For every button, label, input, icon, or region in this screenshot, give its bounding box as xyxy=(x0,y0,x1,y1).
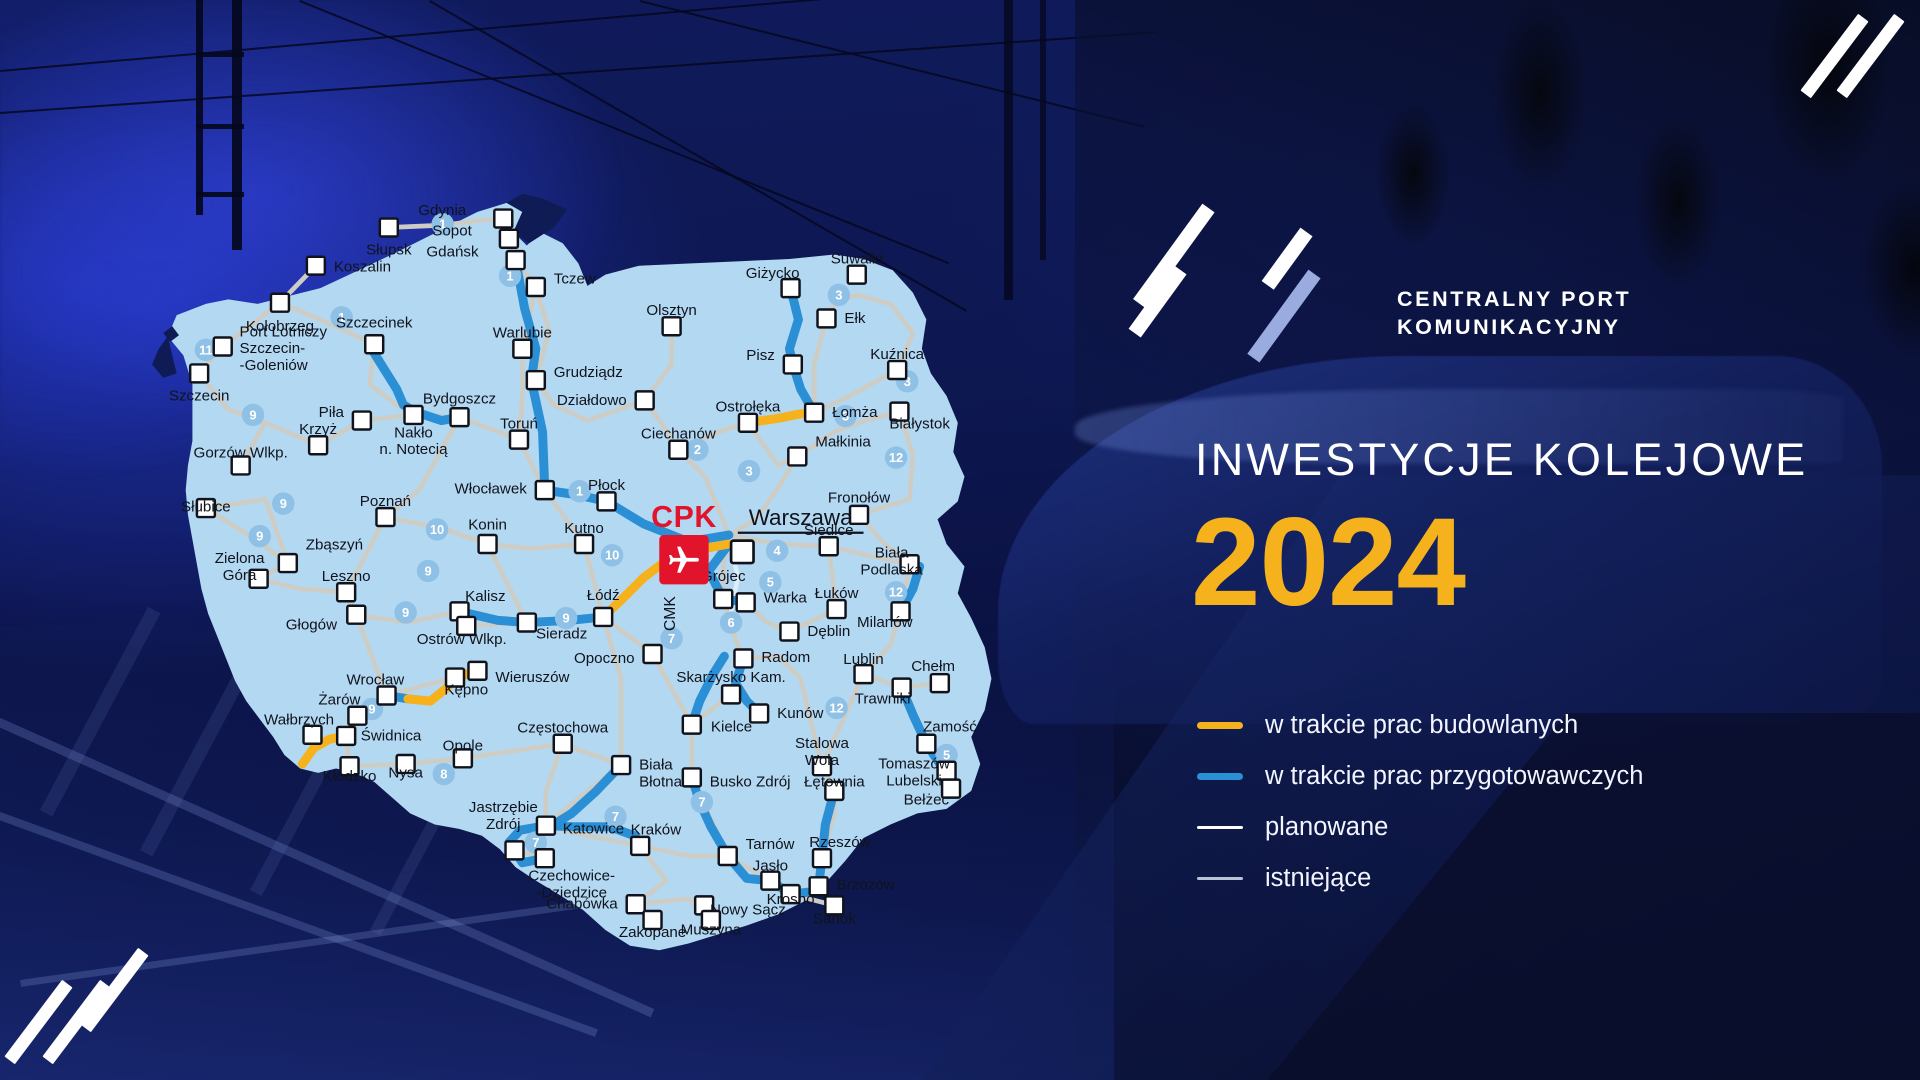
station-marker[interactable] xyxy=(594,608,612,626)
city-label: Leszno xyxy=(322,568,371,585)
station-marker[interactable] xyxy=(784,355,802,373)
city-label: Łomża xyxy=(832,404,878,421)
svg-text:11: 11 xyxy=(199,342,213,357)
city-label: Kępno xyxy=(444,681,488,698)
station-marker[interactable] xyxy=(468,662,486,680)
svg-text:9: 9 xyxy=(402,605,409,620)
city-label: Ostrołęka xyxy=(716,399,781,416)
svg-text:9: 9 xyxy=(368,701,375,716)
city-label: Pisz xyxy=(746,347,775,364)
station-marker[interactable] xyxy=(788,447,806,465)
city-label: Bydgoszcz xyxy=(423,391,496,408)
city-label: Muszyna xyxy=(681,922,742,939)
city-label: Łuków xyxy=(815,585,859,602)
corridor-badge: 7 xyxy=(691,791,713,813)
svg-text:10: 10 xyxy=(430,522,444,537)
station-marker[interactable] xyxy=(598,492,616,510)
city-label: Wałbrzych xyxy=(264,712,334,729)
corridor-badge: 8 xyxy=(433,763,455,785)
city-label: Kalisz xyxy=(465,588,505,605)
brand-name: CENTRALNY PORT KOMUNIKACYJNY xyxy=(1397,285,1631,342)
city-radom[interactable]: Radom xyxy=(734,649,810,668)
city-label: Wrocław xyxy=(346,671,404,688)
station-marker[interactable] xyxy=(353,412,371,430)
station-marker[interactable] xyxy=(554,735,572,753)
city-label: Jasło xyxy=(753,858,788,875)
svg-text:1: 1 xyxy=(506,268,513,283)
svg-text:7: 7 xyxy=(698,795,705,810)
legend-swatch-construction xyxy=(1197,722,1243,729)
station-marker[interactable] xyxy=(506,841,524,859)
station-marker[interactable] xyxy=(888,361,906,379)
city-label: Gdańsk xyxy=(426,244,479,261)
station-marker[interactable] xyxy=(536,849,554,867)
city-label: Tczew xyxy=(554,271,596,288)
city-label: Kutno xyxy=(564,520,604,537)
corridor-badge: 9 xyxy=(249,525,271,547)
city-label: Chabówka xyxy=(546,896,618,913)
city-label: Warka xyxy=(764,589,808,606)
svg-text:10: 10 xyxy=(605,548,619,563)
city-kun-w[interactable]: Kunów xyxy=(750,704,823,722)
legend-label: w trakcie prac przygotowawczych xyxy=(1265,762,1643,791)
city-label: Kuźnica xyxy=(870,346,924,363)
city-label: Opole xyxy=(443,737,483,754)
station-marker[interactable] xyxy=(917,735,935,753)
station-marker[interactable] xyxy=(739,414,757,432)
city-label: Gorzów Wlkp. xyxy=(194,445,288,462)
city-label: Krzyż xyxy=(299,421,337,438)
legend-item[interactable]: w trakcie prac budowlanych xyxy=(1197,700,1837,751)
city--widnica[interactable]: Świdnica xyxy=(337,726,422,744)
city-label: Opoczno xyxy=(574,650,635,667)
city-label: Szczecinek xyxy=(336,314,413,331)
svg-text:7: 7 xyxy=(668,631,675,646)
station-marker[interactable] xyxy=(575,535,593,553)
page-title: INWESTYCJE KOLEJOWE xyxy=(1195,434,1808,486)
city-label: Świdnica xyxy=(361,726,422,744)
svg-text:5: 5 xyxy=(767,575,774,590)
legend-label: w trakcie prac budowlanych xyxy=(1265,711,1578,740)
station-marker[interactable] xyxy=(644,645,662,663)
city-katowice[interactable]: Katowice xyxy=(537,817,624,838)
city-label: Sopot xyxy=(432,222,472,239)
city-zielona-g-ra[interactable]: ZielonaGóra xyxy=(215,550,268,588)
city-label: Busko Zdrój xyxy=(710,773,791,790)
city-label: Ełk xyxy=(844,310,865,327)
station-marker[interactable] xyxy=(663,317,681,335)
city-label: Głogów xyxy=(286,616,337,633)
svg-text:9: 9 xyxy=(280,496,287,511)
city--om-a[interactable]: Łomża xyxy=(805,404,878,422)
city-label: Płock xyxy=(588,477,625,494)
city-brzoz-w[interactable]: Brzozów xyxy=(810,877,895,896)
station-marker[interactable] xyxy=(536,481,554,499)
city-label: Chełm xyxy=(911,658,955,675)
station-marker[interactable] xyxy=(479,535,497,553)
city-label: TomaszówLubelski xyxy=(878,755,950,789)
station-marker[interactable] xyxy=(307,257,325,275)
station-marker[interactable] xyxy=(451,408,469,426)
station-marker[interactable] xyxy=(214,338,232,356)
station-marker[interactable] xyxy=(507,251,525,269)
city-label: Działdowo xyxy=(557,392,627,409)
corridor-badge: 3 xyxy=(828,284,850,306)
station-marker[interactable] xyxy=(279,554,297,572)
station-marker[interactable] xyxy=(828,600,846,618)
corridor-badge: 3 xyxy=(738,460,760,482)
svg-text:8: 8 xyxy=(440,767,447,782)
city-koszalin[interactable]: Koszalin xyxy=(307,257,391,276)
city-label: Nysa xyxy=(388,764,423,781)
city-label: Giżycko xyxy=(746,265,800,282)
svg-text:4: 4 xyxy=(774,543,782,558)
station-marker[interactable] xyxy=(337,583,355,601)
svg-text:6: 6 xyxy=(728,615,735,630)
station-marker[interactable] xyxy=(818,309,836,327)
city-label: Wieruszów xyxy=(495,669,569,686)
station-marker[interactable] xyxy=(190,364,208,382)
capital-station-marker[interactable] xyxy=(731,541,753,563)
station-marker[interactable] xyxy=(347,606,365,624)
svg-text:3: 3 xyxy=(835,287,842,302)
city-w-oc-awek[interactable]: Włocławek xyxy=(454,481,553,500)
city-label: Żarów xyxy=(318,690,360,708)
poland-rail-investment-map[interactable]: 1 1 1 11 9 1 2 3 3 3 3 12 12 12 4 5 6 7 … xyxy=(60,44,1070,1044)
station-marker[interactable] xyxy=(737,593,755,611)
station-marker[interactable] xyxy=(714,590,732,608)
station-marker[interactable] xyxy=(510,431,528,449)
city-label: Szczecin xyxy=(169,387,230,404)
city-label: Radom xyxy=(761,649,810,666)
city-label: Suwałki xyxy=(831,250,883,267)
station-marker[interactable] xyxy=(813,849,831,867)
legend-item[interactable]: istniejące xyxy=(1197,853,1837,904)
city-label: Olsztyn xyxy=(646,302,696,319)
station-marker[interactable] xyxy=(271,294,289,312)
legend-swatch-preparatory xyxy=(1197,773,1243,780)
city-label: Słubice xyxy=(181,498,231,515)
svg-text:2: 2 xyxy=(694,442,701,457)
city-label: Małkinia xyxy=(815,433,871,450)
city-label: Słupsk xyxy=(366,241,412,258)
svg-text:9: 9 xyxy=(256,529,263,544)
station-marker[interactable] xyxy=(337,727,355,745)
station-marker[interactable] xyxy=(722,685,740,703)
info-panel: CENTRALNY PORT KOMUNIKACYJNY INWESTYCJE … xyxy=(1185,0,1920,1080)
svg-text:9: 9 xyxy=(249,407,256,422)
city-label: Zakopane xyxy=(619,924,686,941)
svg-text:12: 12 xyxy=(829,700,843,715)
legend-swatch-planned xyxy=(1197,826,1243,829)
svg-text:9: 9 xyxy=(563,611,570,626)
city-d-blin[interactable]: Dęblin xyxy=(780,623,850,641)
station-marker[interactable] xyxy=(734,649,752,667)
station-marker[interactable] xyxy=(750,704,768,722)
corridor-badge: 9 xyxy=(242,404,264,426)
legend-swatch-existing xyxy=(1197,877,1243,880)
city-label: Włocławek xyxy=(454,481,527,498)
city-label: Koszalin xyxy=(334,258,391,275)
city-label: Rzeszów xyxy=(809,834,870,851)
corridor-badge: 10 xyxy=(426,518,448,540)
city-label: Milanów xyxy=(857,614,913,631)
station-marker[interactable] xyxy=(627,895,645,913)
svg-text:12: 12 xyxy=(889,450,903,465)
station-marker[interactable] xyxy=(683,716,701,734)
svg-text:7: 7 xyxy=(532,835,539,850)
station-marker[interactable] xyxy=(805,404,823,422)
city-label: Sanok xyxy=(813,910,856,927)
station-marker[interactable] xyxy=(931,674,949,692)
station-marker[interactable] xyxy=(612,756,630,774)
city-label: Nowy Sącz xyxy=(710,901,786,918)
station-marker[interactable] xyxy=(719,847,737,865)
city-label: Kłodzko xyxy=(323,768,377,785)
corridor-badge: 9 xyxy=(417,560,439,582)
station-marker[interactable] xyxy=(494,210,512,228)
station-marker[interactable] xyxy=(527,278,545,296)
city-label: Toruń xyxy=(500,415,538,432)
cpk-airport-marker[interactable]: CPK xyxy=(651,501,717,584)
station-marker[interactable] xyxy=(669,441,687,459)
station-marker[interactable] xyxy=(810,877,828,895)
corridor-badge: 4 xyxy=(766,540,788,562)
city-label: Zamość xyxy=(923,718,977,735)
city-label: Kielce xyxy=(711,718,752,735)
cpk-logo-icon xyxy=(1195,212,1385,332)
city-kielce[interactable]: Kielce xyxy=(683,716,752,736)
station-marker[interactable] xyxy=(365,335,383,353)
brand-name-line1: CENTRALNY PORT xyxy=(1397,285,1631,313)
city-label: Piła xyxy=(319,404,345,421)
city-label: Częstochowa xyxy=(517,720,608,737)
station-marker[interactable] xyxy=(376,508,394,526)
city-label: Gdynia xyxy=(418,202,467,219)
svg-text:12: 12 xyxy=(889,585,903,600)
station-marker[interactable] xyxy=(348,707,366,725)
station-marker[interactable] xyxy=(820,537,838,555)
corridor-badge: 10 xyxy=(601,544,623,566)
city-label: Dęblin xyxy=(807,623,850,640)
station-marker[interactable] xyxy=(631,837,649,855)
station-marker[interactable] xyxy=(636,391,654,409)
legend-item[interactable]: w trakcie prac przygotowawczych xyxy=(1197,751,1837,802)
city-label: Tarnów xyxy=(746,836,795,853)
svg-text:1: 1 xyxy=(576,484,583,499)
city-label: Poznań xyxy=(360,493,411,510)
city-label: Brzozów xyxy=(837,877,895,894)
station-marker[interactable] xyxy=(378,687,396,705)
legend: w trakcie prac budowlanych w trakcie pra… xyxy=(1197,700,1837,904)
city-label: Zbąszyń xyxy=(306,537,363,554)
city-label: Katowice xyxy=(563,821,624,838)
city-label: Skarżysko Kam. xyxy=(676,669,785,686)
legend-item[interactable]: planowane xyxy=(1197,802,1837,853)
corridor-badge: 6 xyxy=(720,611,742,633)
cmk-corridor-label: CMK xyxy=(662,596,679,631)
station-marker[interactable] xyxy=(537,817,555,835)
legend-label: istniejące xyxy=(1265,864,1371,893)
page-year: 2024 xyxy=(1191,500,1465,625)
station-marker[interactable] xyxy=(500,230,518,248)
capital-label: Warszawa xyxy=(749,505,853,530)
station-marker[interactable] xyxy=(380,219,398,237)
corridor-badge: 12 xyxy=(885,446,907,468)
cpk-label: CPK xyxy=(651,501,717,534)
station-marker[interactable] xyxy=(527,371,545,389)
city-label: Trawniki xyxy=(855,690,911,707)
city-s-ubice[interactable]: Słubice xyxy=(181,498,231,517)
city-label: Grudziądz xyxy=(554,364,623,381)
corridor-badge: 9 xyxy=(394,601,416,623)
station-marker[interactable] xyxy=(405,406,423,424)
city-label: Ciechanów xyxy=(641,426,716,443)
station-marker[interactable] xyxy=(683,768,701,786)
city-label: Bełżec xyxy=(904,791,950,808)
station-marker[interactable] xyxy=(518,614,536,632)
city-label: Konin xyxy=(468,516,507,533)
brand-name-line2: KOMUNIKACYJNY xyxy=(1397,313,1631,341)
city-chab-wka[interactable]: Chabówka xyxy=(546,895,644,913)
city-label: Kraków xyxy=(631,822,682,839)
city-label: Łętownia xyxy=(804,773,865,790)
svg-text:9: 9 xyxy=(425,563,432,578)
city-label: Kunów xyxy=(777,705,823,722)
station-marker[interactable] xyxy=(848,266,866,284)
city-label: Lublin xyxy=(843,651,883,668)
corridor-badge: 12 xyxy=(825,697,847,719)
city-label: Sieradz xyxy=(536,625,587,642)
station-marker[interactable] xyxy=(309,436,327,454)
city-label: Warlubie xyxy=(493,325,552,342)
city-dzia-dowo[interactable]: Działdowo xyxy=(557,391,654,409)
city-label: Ostrów Wlkp. xyxy=(417,631,507,648)
station-marker[interactable] xyxy=(780,623,798,641)
corridor-badge: 12 xyxy=(885,581,907,603)
svg-text:3: 3 xyxy=(745,464,752,479)
station-marker[interactable] xyxy=(513,340,531,358)
corridor-badge: 9 xyxy=(272,492,294,514)
city-label: Łódź xyxy=(587,587,620,604)
legend-label: planowane xyxy=(1265,813,1388,842)
city-label: Białystok xyxy=(889,415,950,432)
